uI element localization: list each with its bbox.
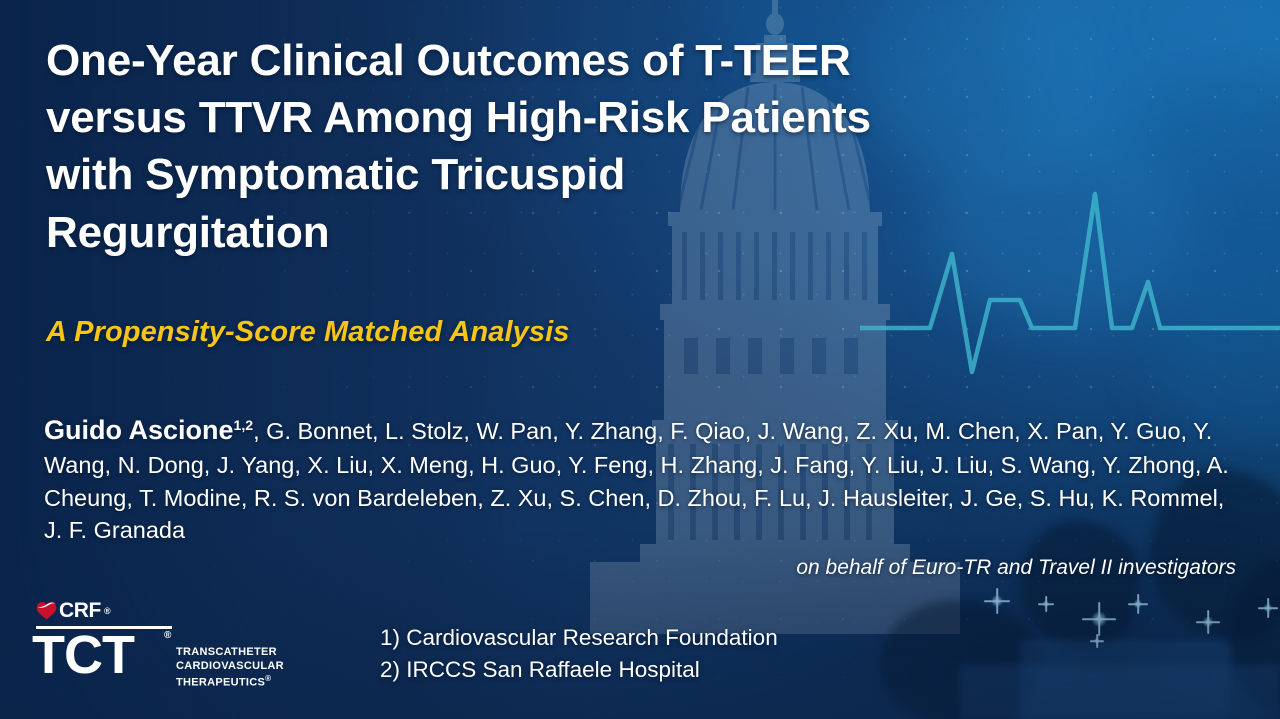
tct-wordmark: TCT [32, 628, 134, 682]
title-line-4: Regurgitation [46, 208, 329, 257]
affiliation-list: 1) Cardiovascular Research Foundation 2)… [380, 622, 778, 686]
page-subtitle: A Propensity-Score Matched Analysis [46, 316, 570, 349]
tct-tagline: TRANSCATHETER CARDIOVASCULAR THERAPEUTIC… [176, 645, 284, 690]
title-line-3: with Symptomatic Tricuspid [46, 150, 625, 199]
author-list: Guido Ascione1,2, G. Bonnet, L. Stolz, W… [44, 412, 1236, 547]
presenting-author-affiliation-marker: 1,2 [234, 417, 254, 433]
crf-wordmark: CRF [59, 600, 101, 621]
title-line-1: One-Year Clinical Outcomes of T-TEER [46, 36, 851, 85]
crf-registered-mark: ® [104, 606, 111, 616]
tct-registered-mark: ® [164, 630, 171, 641]
presenting-author-name: Guido Ascione [44, 415, 234, 445]
tct-tagline-registered-mark: ® [265, 674, 271, 683]
page-title: One-Year Clinical Outcomes of T-TEER ver… [46, 32, 1186, 261]
tct-tagline-line-2: CARDIOVASCULAR [176, 659, 284, 673]
slide-content: One-Year Clinical Outcomes of T-TEER ver… [0, 0, 1280, 719]
on-behalf-of-note: on behalf of Euro-TR and Travel II inves… [796, 556, 1236, 580]
crf-tct-logo: CRF® TCT ® TRANSCATHETER CARDIOVASCULAR … [24, 600, 284, 692]
presentation-slide: One-Year Clinical Outcomes of T-TEER ver… [0, 0, 1280, 719]
affiliation-item-1: 1) Cardiovascular Research Foundation [380, 622, 778, 654]
tct-tagline-line-3: THERAPEUTICS [176, 676, 265, 688]
crf-logo: CRF® [36, 600, 111, 621]
affiliation-item-2: 2) IRCCS San Raffaele Hospital [380, 654, 778, 686]
crf-heart-icon [36, 601, 57, 620]
tct-tagline-line-3-wrap: THERAPEUTICS® [176, 674, 284, 690]
title-line-2: versus TTVR Among High-Risk Patients [46, 93, 871, 142]
tct-tagline-line-1: TRANSCATHETER [176, 645, 284, 659]
